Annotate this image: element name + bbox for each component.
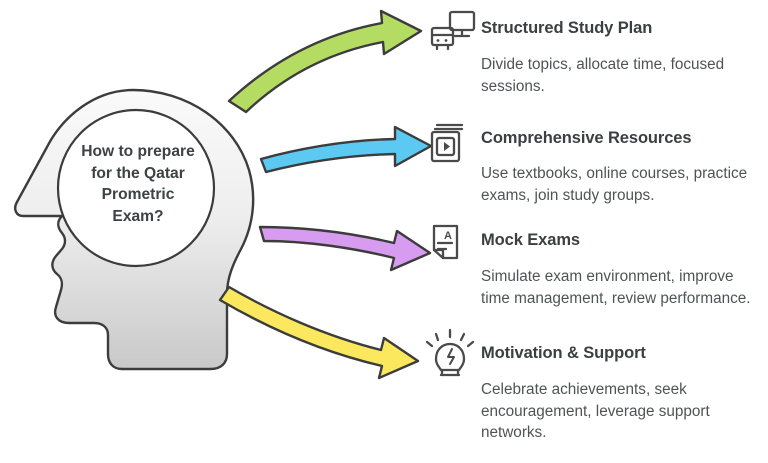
diagram-canvas: A How to prepare for the Qatar Prometric… bbox=[0, 0, 768, 463]
center-question-label: How to prepare for the Qatar Prometric E… bbox=[48, 141, 228, 227]
arrow-structured-study-plan bbox=[229, 11, 421, 112]
center-title-line-3: Prometric bbox=[102, 186, 175, 203]
arrow-comprehensive-resources bbox=[261, 127, 431, 172]
branch-title-mock-exams: Mock Exams bbox=[481, 231, 580, 250]
arrow-motivation-support bbox=[220, 287, 418, 378]
branch-title-structured-study-plan: Structured Study Plan bbox=[481, 19, 652, 38]
center-title-line-4: Exam? bbox=[112, 208, 163, 225]
book-play-icon bbox=[432, 125, 462, 161]
branch-description-comprehensive-resources: Use textbooks, online courses, practice … bbox=[481, 163, 751, 206]
branch-description-structured-study-plan: Divide topics, allocate time, focused se… bbox=[481, 54, 751, 97]
branch-title-comprehensive-resources: Comprehensive Resources bbox=[481, 129, 691, 148]
center-title-line-1: How to prepare bbox=[81, 143, 195, 160]
graded-document-icon: A bbox=[434, 226, 457, 258]
branch-description-mock-exams: Simulate exam environment, improve time … bbox=[481, 266, 751, 309]
center-title-line-2: for the Qatar bbox=[91, 165, 185, 182]
lightbulb-idea-icon bbox=[427, 330, 473, 375]
svg-text:A: A bbox=[444, 230, 452, 242]
branch-title-motivation-support: Motivation & Support bbox=[481, 344, 646, 363]
arrow-mock-exams bbox=[260, 227, 430, 270]
branch-description-motivation-support: Celebrate achievements, seek encourageme… bbox=[481, 379, 751, 444]
monitor-workstation-icon bbox=[432, 12, 474, 49]
